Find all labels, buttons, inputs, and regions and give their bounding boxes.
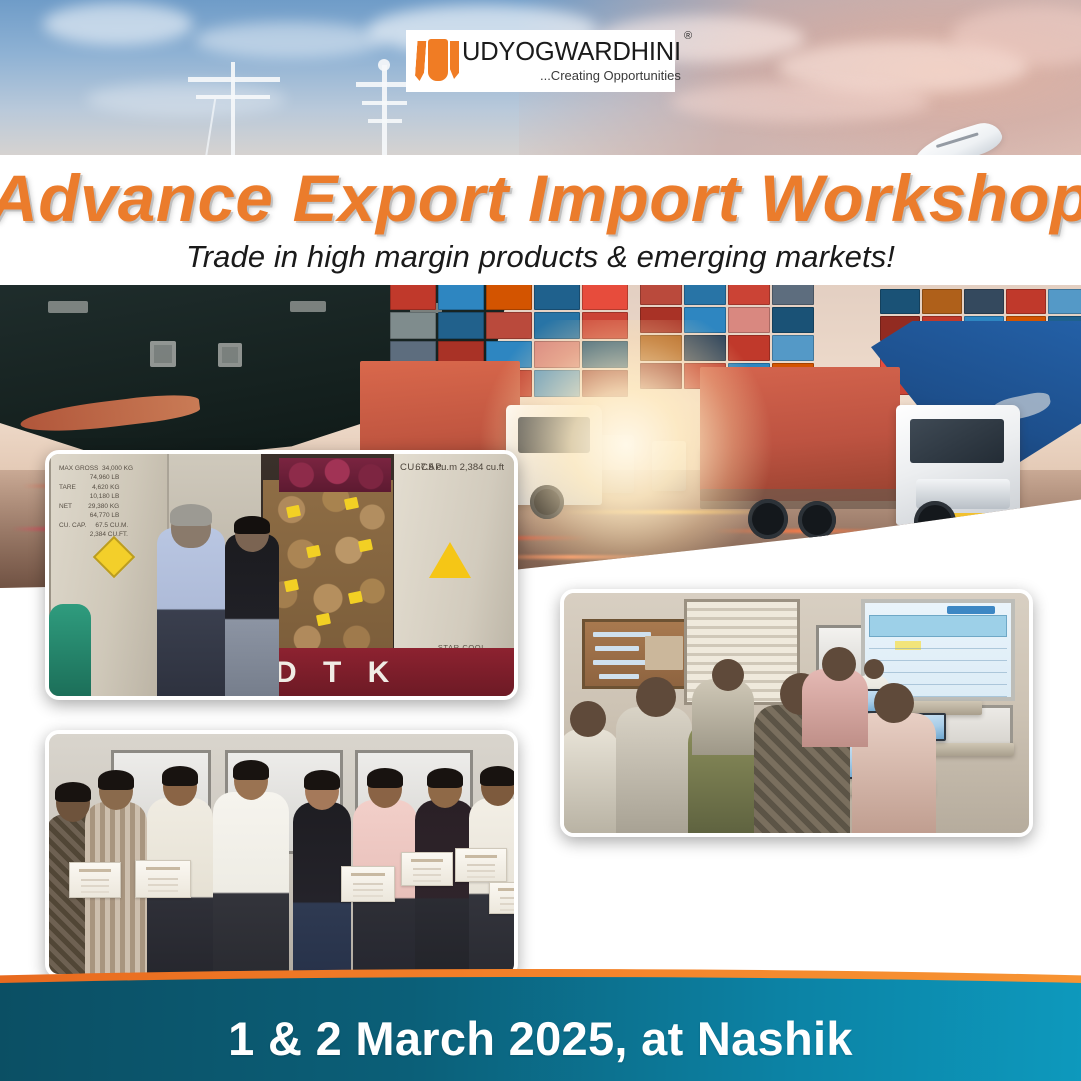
person-figure [49, 604, 91, 696]
person-hair [170, 504, 212, 526]
person-hair [234, 516, 270, 534]
person-hair [367, 768, 403, 788]
warning-triangle-icon [429, 542, 471, 578]
light-streak [843, 548, 1043, 552]
shipping-container [772, 307, 814, 333]
radio-antenna-icon [382, 65, 387, 157]
shipping-container [640, 283, 682, 305]
logo-tagline: ...Creating Opportunities [462, 69, 681, 82]
notice-board [582, 619, 688, 689]
container-inspection-photo: MAX GROSS 34,000 KG 74,960 LB TARE 4,620… [45, 450, 518, 700]
participant-figure [213, 792, 289, 974]
logo-wordmark: UDYOGWARDHINI ® [462, 40, 681, 66]
person-head [874, 683, 914, 723]
shipping-container [922, 289, 962, 314]
shipping-container [534, 312, 580, 339]
shipping-container [728, 335, 770, 361]
shipping-container [640, 335, 682, 361]
cloud-shape [670, 82, 930, 122]
person-figure [225, 534, 279, 696]
page-title: Advance Export Import Workshop [0, 165, 1081, 232]
person-hair [480, 766, 514, 786]
person-head [712, 659, 744, 691]
shipping-container [534, 283, 580, 310]
classroom-training-photo [560, 589, 1033, 837]
person-figure [157, 528, 225, 696]
person-hair [233, 760, 269, 780]
shipping-container [582, 283, 628, 310]
logo-wordmark-text: UDYOGWARDHINI [462, 38, 681, 66]
radio-antenna-icon [356, 82, 412, 87]
shipping-container [390, 312, 436, 339]
shipping-container [964, 289, 1004, 314]
cargo-truck-icon [700, 371, 1080, 581]
cloud-shape [43, 3, 193, 45]
certificate [455, 848, 507, 882]
page-subtitle: Trade in high margin products & emerging… [186, 239, 895, 275]
shipping-container [684, 335, 726, 361]
shipping-container [390, 283, 436, 310]
certificate [69, 862, 121, 898]
poster-root: UDYOGWARDHINI ® ...Creating Opportunitie… [0, 0, 1081, 1081]
title-band: Advance Export Import Workshop Trade in … [0, 155, 1081, 285]
trailer-marking: D T K [275, 656, 398, 690]
shipping-container [640, 307, 682, 333]
person-head [864, 659, 884, 679]
person-head [570, 701, 606, 737]
light-streak [627, 574, 867, 578]
event-date-location: 1 & 2 March 2025, at Nashik [228, 1011, 853, 1066]
registered-trademark-icon: ® [684, 31, 692, 42]
shipping-container [582, 312, 628, 339]
event-footer-banner: 1 & 2 March 2025, at Nashik [0, 977, 1081, 1081]
radio-antenna-icon [368, 119, 402, 123]
ship-mast-icon [196, 95, 270, 99]
radio-antenna-icon [378, 59, 390, 71]
shipping-container [880, 289, 920, 314]
shipping-container [728, 283, 770, 305]
brand-logo: UDYOGWARDHINI ® ...Creating Opportunitie… [406, 30, 675, 92]
shipping-container [486, 312, 532, 339]
certificate-group-photo [45, 730, 518, 978]
certificate [489, 882, 514, 914]
shipping-container [684, 283, 726, 305]
radio-antenna-icon [362, 101, 407, 105]
udyogwardhini-u-mark-icon [414, 39, 460, 83]
light-streak [930, 517, 1080, 521]
participant-figure [616, 707, 692, 833]
shipping-container [486, 283, 532, 310]
shipping-container [728, 307, 770, 333]
person-hair [304, 770, 340, 790]
person-head [636, 677, 676, 717]
container-spec-plate: MAX GROSS 34,000 KG 74,960 LB TARE 4,620… [59, 464, 133, 539]
shipping-container [772, 283, 814, 305]
cloud-shape [195, 22, 385, 58]
container-cucap-values: 67.5 cu.m 2,384 cu.ft [415, 462, 504, 474]
person-head [822, 647, 856, 681]
ship-mast-icon [188, 77, 280, 82]
person-hair [427, 768, 463, 788]
shipping-container [438, 283, 484, 310]
certificate [135, 860, 191, 898]
participant-figure [415, 800, 475, 974]
person-hair [162, 766, 198, 786]
certificate [401, 852, 453, 886]
person-hair [55, 782, 91, 802]
participant-figure [564, 729, 620, 833]
shipping-container [1048, 289, 1081, 314]
certificate [341, 866, 395, 902]
shipping-container [772, 335, 814, 361]
person-hair [98, 770, 134, 790]
shipping-container [1006, 289, 1046, 314]
shipping-container [438, 312, 484, 339]
shipping-container [684, 307, 726, 333]
